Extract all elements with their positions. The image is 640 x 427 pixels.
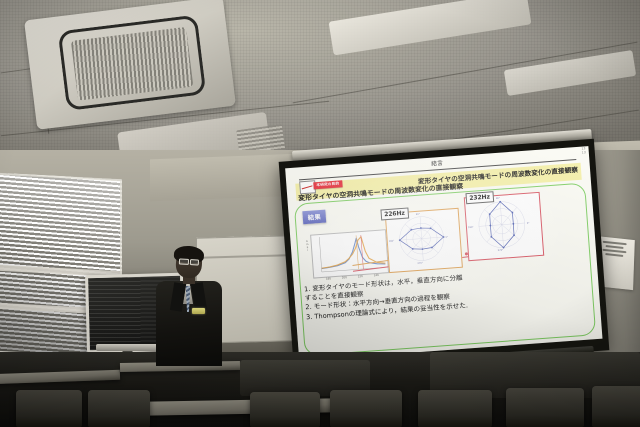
slide-page-number: 1313	[581, 147, 586, 155]
chair	[592, 386, 640, 427]
chair	[250, 392, 320, 427]
glasses-icon	[179, 258, 199, 263]
callout-anchor-dot	[465, 252, 468, 255]
chair	[506, 388, 584, 427]
polar-tick: 270°	[498, 249, 504, 252]
chart-xtick: 200	[342, 276, 347, 279]
presentation-slide: 1313 結言 変形タイヤの空洞共鳴モードの周波数変化の直接観察 本研究の目的 …	[285, 146, 602, 361]
chart-xtick: 240	[374, 274, 379, 277]
screen-canvas: 1313 結言 変形タイヤの空洞共鳴モードの周波数変化の直接観察 本研究の目的 …	[285, 146, 602, 361]
presenter-name-badge	[192, 308, 205, 314]
result-badge: 結果	[302, 210, 326, 225]
projection-screen: 1313 結言 変形タイヤの空洞共鳴モードの周波数変化の直接観察 本研究の目的 …	[286, 138, 606, 368]
polar-tick: 0°	[527, 222, 530, 225]
polar-tick: 90°	[496, 197, 500, 200]
polar-tick: 90°	[416, 213, 420, 216]
chart-svg	[311, 230, 388, 277]
chair	[330, 390, 402, 427]
polar-tick: 0°	[446, 236, 449, 239]
purpose-badge: 本研究の目的	[313, 180, 342, 189]
chair	[418, 390, 492, 427]
sign-text-line	[606, 245, 624, 249]
chart-ylabel: Ampl	[302, 240, 312, 253]
freq-label-226: 226Hz	[380, 208, 408, 221]
screen-frame: 1313 結言 変形タイヤの空洞共鳴モードの周波数変化の直接観察 本研究の目的 …	[279, 139, 610, 374]
sign-text-line	[605, 253, 623, 257]
polar-tick: 180°	[389, 240, 395, 243]
freq-label-232: 232Hz	[465, 191, 493, 204]
presenter	[148, 248, 228, 366]
polar-tick: 270°	[417, 262, 423, 265]
polar-tick: 180°	[468, 226, 474, 229]
chart-xtick: 220	[358, 275, 363, 278]
lecture-room-photo: 1313 結言 変形タイヤの空洞共鳴モードの周波数変化の直接観察 本研究の目的 …	[0, 0, 640, 427]
chair	[88, 390, 150, 427]
chair	[16, 390, 82, 427]
chart-xtick: 180	[326, 277, 331, 280]
frequency-response-chart: Ampl 180 200 220 240	[310, 229, 389, 278]
